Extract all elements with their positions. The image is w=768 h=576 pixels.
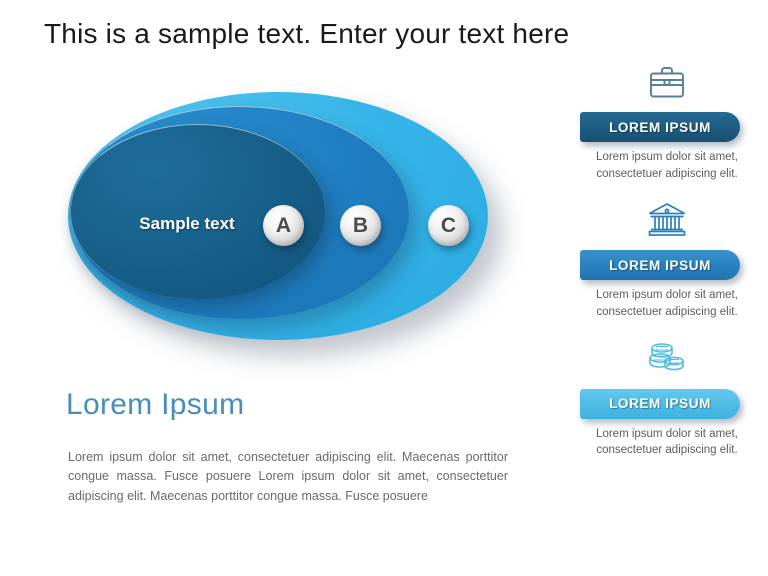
card-1-text: Lorem ipsum dolor sit amet, consectetuer…	[578, 149, 756, 182]
card-2-text: Lorem ipsum dolor sit amet, consectetuer…	[578, 287, 756, 320]
card-2[interactable]: LOREM IPSUM Lorem ipsum dolor sit amet, …	[574, 196, 760, 320]
nested-ellipse-diagram: Sample text A B C	[40, 80, 540, 380]
card-2-banner[interactable]: LOREM IPSUM	[580, 250, 740, 280]
ellipse-inner-label: Sample text	[92, 214, 282, 234]
card-3-text: Lorem ipsum dolor sit amet, consectetuer…	[578, 426, 756, 459]
lead-body-text: Lorem ipsum dolor sit amet, consectetuer…	[68, 448, 508, 506]
page-title: This is a sample text. Enter your text h…	[44, 18, 569, 50]
coins-stack-icon	[574, 335, 760, 383]
cards-column: LOREM IPSUM Lorem ipsum dolor sit amet, …	[574, 58, 760, 473]
marker-sphere-c[interactable]: C	[428, 205, 469, 246]
card-3-banner[interactable]: LOREM IPSUM	[580, 389, 740, 419]
card-3[interactable]: LOREM IPSUM Lorem ipsum dolor sit amet, …	[574, 335, 760, 459]
bank-building-icon	[574, 196, 760, 244]
marker-sphere-a[interactable]: A	[263, 205, 304, 246]
lead-heading: Lorem Ipsum	[66, 388, 244, 422]
card-1-banner[interactable]: LOREM IPSUM	[580, 112, 740, 142]
marker-sphere-b[interactable]: B	[340, 205, 381, 246]
card-1[interactable]: LOREM IPSUM Lorem ipsum dolor sit amet, …	[574, 58, 760, 182]
briefcase-icon	[574, 58, 760, 106]
